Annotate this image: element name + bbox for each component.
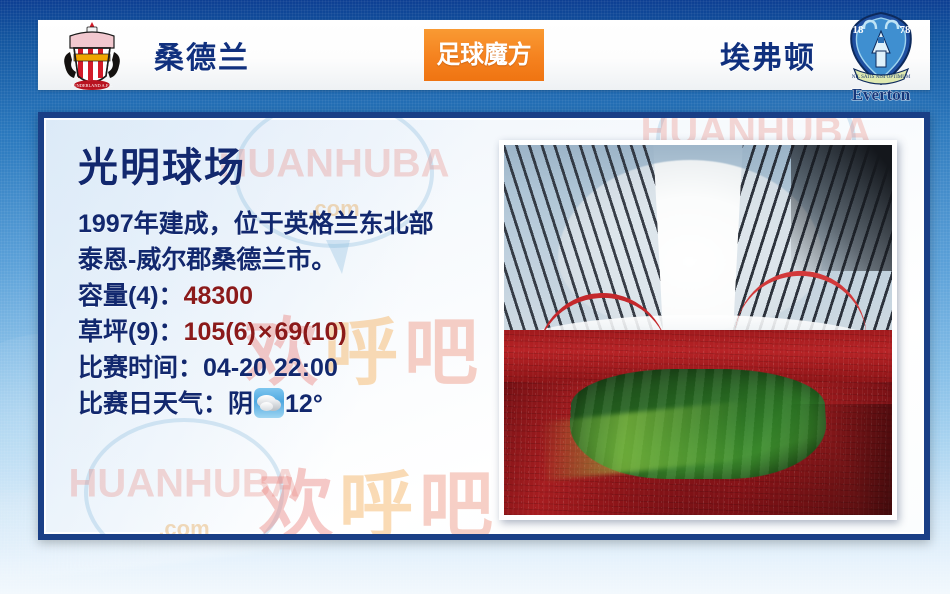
stadium-info-text: 光明球场 1997年建成，位于英格兰东北部 泰恩-威尔郡桑德兰市。 容量(4)：… xyxy=(78,146,508,422)
pitch-label: 草坪(9)： xyxy=(78,318,184,346)
watermark-bubble-bottom: HUANHUBA .com xyxy=(84,418,284,540)
stadium-photo-frame[interactable] xyxy=(499,140,897,520)
crest-year-right: 78 xyxy=(900,24,912,36)
stadium-info-panel: HUANHUBA .com HUANHUBA .com HUANHUBA .co… xyxy=(38,112,930,540)
photo-shadow-overlay xyxy=(714,404,892,515)
svg-text:Everton: Everton xyxy=(852,85,911,103)
stadium-interior-photo xyxy=(504,145,892,515)
match-time-value: 04-20 22:00 xyxy=(203,354,338,382)
sunderland-crest: SUNDERLAND A.F.C. xyxy=(56,18,128,92)
site-logo-text: 足球魔方 xyxy=(436,43,531,68)
away-team-block[interactable]: 埃弗顿 NIL SATIS NISI OPTIMUM 18 78 Everton xyxy=(544,20,930,90)
photo-dark-corner xyxy=(791,145,892,271)
stadium-title: 光明球场 xyxy=(78,146,508,190)
pitch-row: 草坪(9)：105(6)×69(10) xyxy=(78,314,508,350)
weather-label: 比赛日天气： xyxy=(78,390,228,418)
capacity-value: 48300 xyxy=(184,282,254,310)
watermark-brand-char-4: 欢 xyxy=(259,464,339,540)
weather-temperature: 12° xyxy=(285,390,323,418)
home-team-block[interactable]: SUNDERLAND A.F.C. 桑德兰 xyxy=(38,20,424,90)
match-time-row: 比赛时间：04-20 22:00 xyxy=(78,350,508,386)
cloudy-icon xyxy=(254,388,284,418)
pitch-length-value: 105(6) xyxy=(184,318,256,346)
weather-row: 比赛日天气：阴12° xyxy=(78,386,508,422)
watermark-brand-bottom: 欢呼吧 xyxy=(259,446,499,540)
match-time-label: 比赛时间： xyxy=(78,354,203,382)
site-logo[interactable]: 足球魔方 xyxy=(424,29,544,81)
stadium-description-line-2: 泰恩-威尔郡桑德兰市。 xyxy=(78,242,508,278)
watermark-bubble-domain-3: .com xyxy=(158,516,209,540)
away-team-name: 埃弗顿 xyxy=(720,33,816,77)
svg-text:SUNDERLAND A.F.C.: SUNDERLAND A.F.C. xyxy=(71,83,113,88)
watermark-brand-char-5: 呼 xyxy=(339,464,419,540)
pitch-width-value: 69(10) xyxy=(274,318,346,346)
capacity-row: 容量(4)：48300 xyxy=(78,278,508,314)
watermark-bubble-text-3: HUANHUBA xyxy=(68,462,299,507)
weather-condition: 阴 xyxy=(228,390,253,418)
match-header-bar: SUNDERLAND A.F.C. 桑德兰 足球魔方 埃弗顿 NIL SATIS… xyxy=(38,20,930,90)
everton-crest: NIL SATIS NISI OPTIMUM 18 78 Everton xyxy=(838,7,924,103)
watermark-brand-char-6: 吧 xyxy=(419,464,499,540)
pitch-dimension-separator: × xyxy=(256,318,275,346)
svg-text:NIL SATIS NISI OPTIMUM: NIL SATIS NISI OPTIMUM xyxy=(852,75,911,80)
crest-year-left: 18 xyxy=(853,24,865,36)
stadium-description-line-1: 1997年建成，位于英格兰东北部 xyxy=(78,206,508,242)
capacity-label: 容量(4)： xyxy=(78,282,184,310)
home-team-name: 桑德兰 xyxy=(154,33,250,77)
